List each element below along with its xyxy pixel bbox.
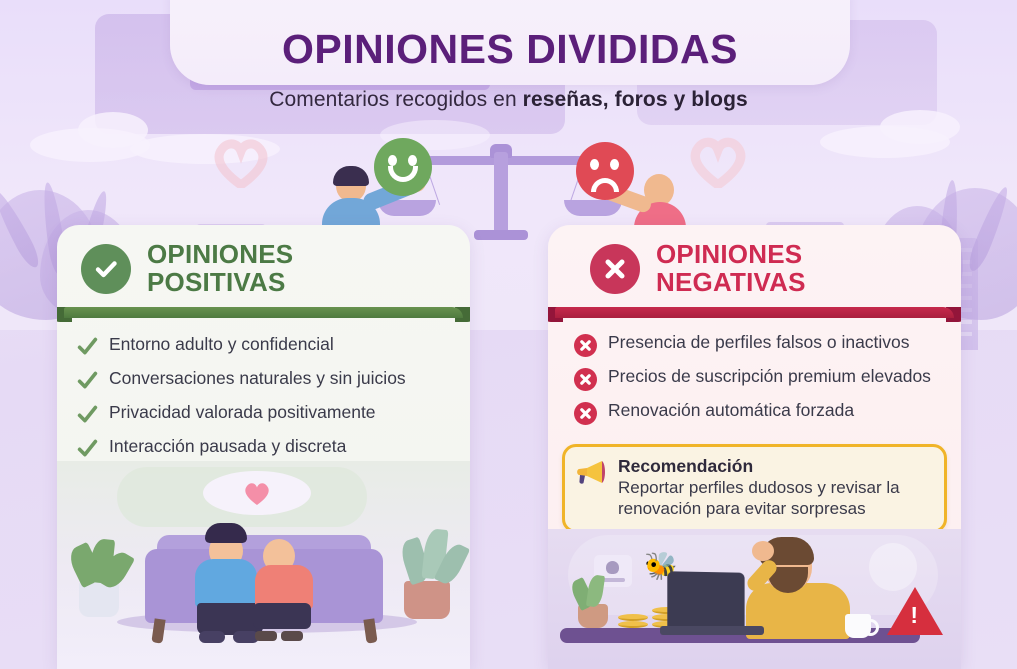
woman-shoe (255, 631, 277, 641)
negative-card-title: OPINIONES NEGATIVAS (656, 241, 806, 297)
check-icon (77, 370, 98, 391)
sad-face-watermark (869, 543, 917, 591)
positive-ribbon-divider (57, 307, 470, 322)
balance-scale-illustration (318, 128, 698, 238)
list-item: Privacidad valorada positivamente (77, 402, 448, 425)
woman-skirt (253, 603, 311, 629)
positive-title-line1: OPINIONES (147, 241, 293, 269)
couple-on-sofa-illustration (57, 461, 470, 669)
heart-icon (242, 480, 272, 507)
megaphone-icon (575, 458, 609, 493)
man-hair (205, 523, 247, 543)
subtitle-emphasis: reseñas, foros y blogs (523, 88, 748, 111)
x-icon (574, 402, 597, 425)
subtitle-container: Comentarios recogidos en reseñas, foros … (0, 88, 1017, 112)
ribbon-bar (555, 307, 954, 318)
negative-card-header: OPINIONES NEGATIVAS (548, 225, 961, 307)
list-item-label: Presencia de perfiles falsos o inactivos (608, 332, 910, 354)
frown-shape (591, 178, 619, 192)
check-circle-icon (81, 244, 131, 294)
negative-opinions-card: OPINIONES NEGATIVAS Presencia de perfile… (548, 225, 961, 669)
list-item-label: Precios de suscripción premium elevados (608, 366, 931, 388)
user-avatar-icon (606, 561, 619, 574)
happy-face-icon (374, 138, 432, 196)
cloud-shape (880, 110, 960, 144)
thought-bubble (203, 471, 311, 515)
plant-pot (404, 581, 450, 619)
scale-pan-right (564, 200, 622, 216)
man-shirt (195, 559, 257, 607)
man-hair (333, 166, 369, 186)
recommendation-box: Recomendación Reportar perfiles dudosos … (562, 444, 947, 533)
man-hand (752, 541, 774, 561)
eye-shape (610, 159, 619, 170)
list-item: Presencia de perfiles falsos o inactivos (574, 332, 945, 357)
man-shoe (199, 631, 225, 643)
smile-shape (388, 166, 418, 182)
list-item-label: Interacción pausada y discreta (109, 436, 346, 458)
list-item: Renovación automática forzada (574, 400, 945, 425)
positive-card-header: OPINIONES POSITIVAS (57, 225, 470, 307)
x-icon (574, 368, 597, 391)
list-item-label: Privacidad valorada positivamente (109, 402, 376, 424)
eye-shape (388, 155, 397, 166)
coin-stack (618, 614, 648, 621)
infographic-canvas: OPINIONES DIVIDIDAS Comentarios recogido… (0, 0, 1017, 669)
sad-face-icon (576, 142, 634, 200)
page-title: OPINIONES DIVIDIDAS (282, 26, 738, 73)
negative-title-line1: OPINIONES (656, 241, 806, 269)
subtitle-prefix: Comentarios recogidos en (269, 88, 522, 111)
frustrated-man-illustration: 🐝 ! (548, 529, 961, 669)
list-item: Conversaciones naturales y sin juicios (77, 368, 448, 391)
laptop-base (660, 626, 764, 635)
scale-base (474, 230, 528, 240)
recommendation-content: Recomendación Reportar perfiles dudosos … (618, 456, 932, 520)
laptop-screen (667, 571, 744, 629)
negative-ribbon-divider (548, 307, 961, 322)
scale-post (494, 152, 508, 238)
list-item: Interacción pausada y discreta (77, 436, 448, 459)
list-item: Precios de suscripción premium elevados (574, 366, 945, 391)
positive-opinions-card: OPINIONES POSITIVAS Entorno adulto y con… (57, 225, 470, 669)
eye-shape (408, 155, 417, 166)
recommendation-text: Reportar perfiles dudosos y revisar la r… (618, 478, 932, 520)
eye-shape (590, 159, 599, 170)
page-subtitle: Comentarios recogidos en reseñas, foros … (269, 88, 748, 112)
positive-items-list: Entorno adulto y confidencial Conversaci… (57, 322, 470, 478)
positive-title-line2: POSITIVAS (147, 269, 293, 297)
coffee-mug (845, 614, 871, 638)
title-banner: OPINIONES DIVIDIDAS (170, 0, 850, 85)
negative-title-line2: NEGATIVAS (656, 269, 806, 297)
x-circle-icon (590, 244, 640, 294)
recommendation-title: Recomendación (618, 456, 932, 477)
list-item: Entorno adulto y confidencial (77, 334, 448, 357)
negative-items-list: Presencia de perfiles falsos o inactivos… (548, 322, 961, 440)
ribbon-bar (64, 307, 463, 318)
positive-card-title: OPINIONES POSITIVAS (147, 241, 293, 297)
sofa-leg (151, 618, 165, 643)
warning-exclamation: ! (910, 604, 918, 627)
check-icon (77, 336, 98, 357)
check-icon (77, 438, 98, 459)
list-item-label: Entorno adulto y confidencial (109, 334, 334, 356)
heart-icon (212, 136, 270, 188)
coin-stack (618, 621, 648, 628)
check-icon (77, 404, 98, 425)
x-icon (574, 334, 597, 357)
list-item-label: Renovación automática forzada (608, 400, 854, 422)
woman-shoe (281, 631, 303, 641)
list-item-label: Conversaciones naturales y sin juicios (109, 368, 406, 390)
